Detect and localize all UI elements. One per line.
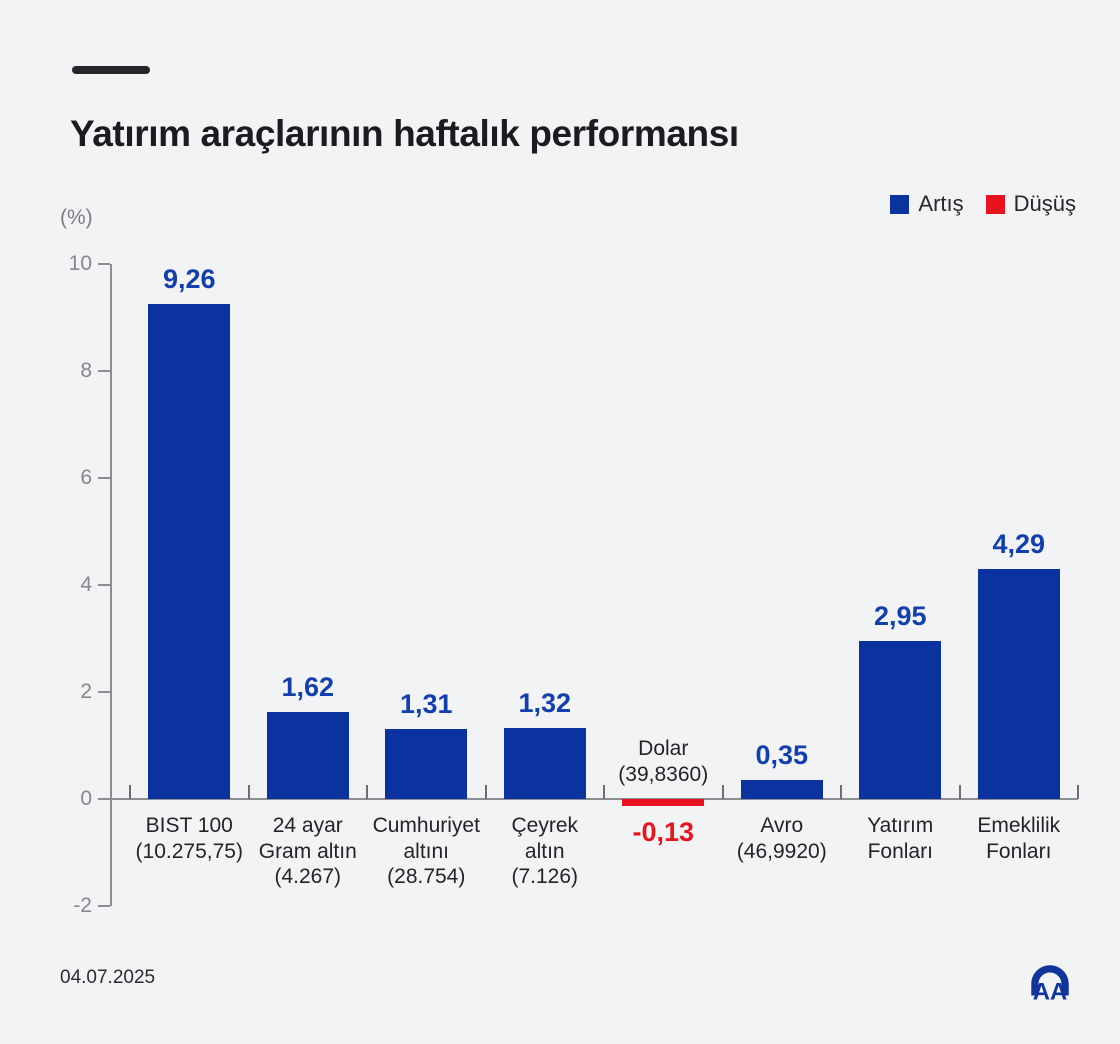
y-axis-unit-label: (%) — [60, 206, 93, 230]
bar-7 — [978, 569, 1060, 799]
bar-6 — [859, 641, 941, 799]
category-label: Avro (46,9920) — [737, 813, 827, 864]
y-axis-tick-label: 4 — [42, 573, 92, 597]
plot-area: 1086420-2 9,261,621,311,32-0,130,352,954… — [110, 264, 1078, 906]
y-axis-tick-label: -2 — [42, 894, 92, 918]
bar-chart: (%) 1086420-2 9,261,621,311,32-0,130,352… — [0, 0, 1120, 1044]
y-axis-tick — [98, 477, 110, 479]
bar-0 — [148, 304, 230, 799]
bar-3 — [504, 728, 586, 799]
category-tick — [248, 785, 250, 799]
bar-5 — [741, 780, 823, 799]
category-tick — [1077, 785, 1079, 799]
y-axis-tick-label: 2 — [42, 680, 92, 704]
bar-value-label: 1,32 — [518, 688, 571, 719]
category-tick — [959, 785, 961, 799]
category-tick — [722, 785, 724, 799]
bar-value-label: 2,95 — [874, 601, 927, 632]
bar-value-label: 1,31 — [400, 689, 453, 720]
y-axis-tick — [98, 584, 110, 586]
category-label: BIST 100 (10.275,75) — [136, 813, 243, 864]
category-label: 24 ayar Gram altın (4.267) — [259, 813, 357, 890]
y-axis-line — [110, 264, 112, 906]
y-axis-tick-label: 8 — [42, 359, 92, 383]
category-label: Yatırım Fonları — [867, 813, 933, 864]
category-tick — [485, 785, 487, 799]
category-tick — [366, 785, 368, 799]
y-axis-tick-label: 10 — [42, 252, 92, 276]
category-label: Dolar (39,8360) — [618, 736, 708, 787]
bar-4 — [622, 799, 704, 806]
bar-value-label: -0,13 — [632, 817, 694, 848]
category-label: Cumhuriyet altını (28.754) — [373, 813, 480, 890]
bar-1 — [267, 712, 349, 799]
y-axis-tick — [98, 905, 110, 907]
y-axis-tick — [98, 798, 110, 800]
publish-date: 04.07.2025 — [60, 967, 155, 989]
category-tick — [603, 785, 605, 799]
bar-value-label: 4,29 — [992, 529, 1045, 560]
y-axis-tick-label: 6 — [42, 466, 92, 490]
bar-value-label: 9,26 — [163, 264, 216, 295]
bar-value-label: 1,62 — [281, 672, 334, 703]
y-axis-tick — [98, 691, 110, 693]
y-axis-tick — [98, 370, 110, 372]
y-axis-tick — [98, 263, 110, 265]
y-axis-tick-label: 0 — [42, 787, 92, 811]
svg-text:AA: AA — [1033, 979, 1068, 1006]
aa-logo-icon: AA — [1024, 958, 1076, 1010]
category-tick — [840, 785, 842, 799]
category-label: Emeklilik Fonları — [977, 813, 1060, 864]
category-label: Çeyrek altın (7.126) — [511, 813, 578, 890]
bar-2 — [385, 729, 467, 799]
category-tick — [129, 785, 131, 799]
bar-value-label: 0,35 — [755, 740, 808, 771]
